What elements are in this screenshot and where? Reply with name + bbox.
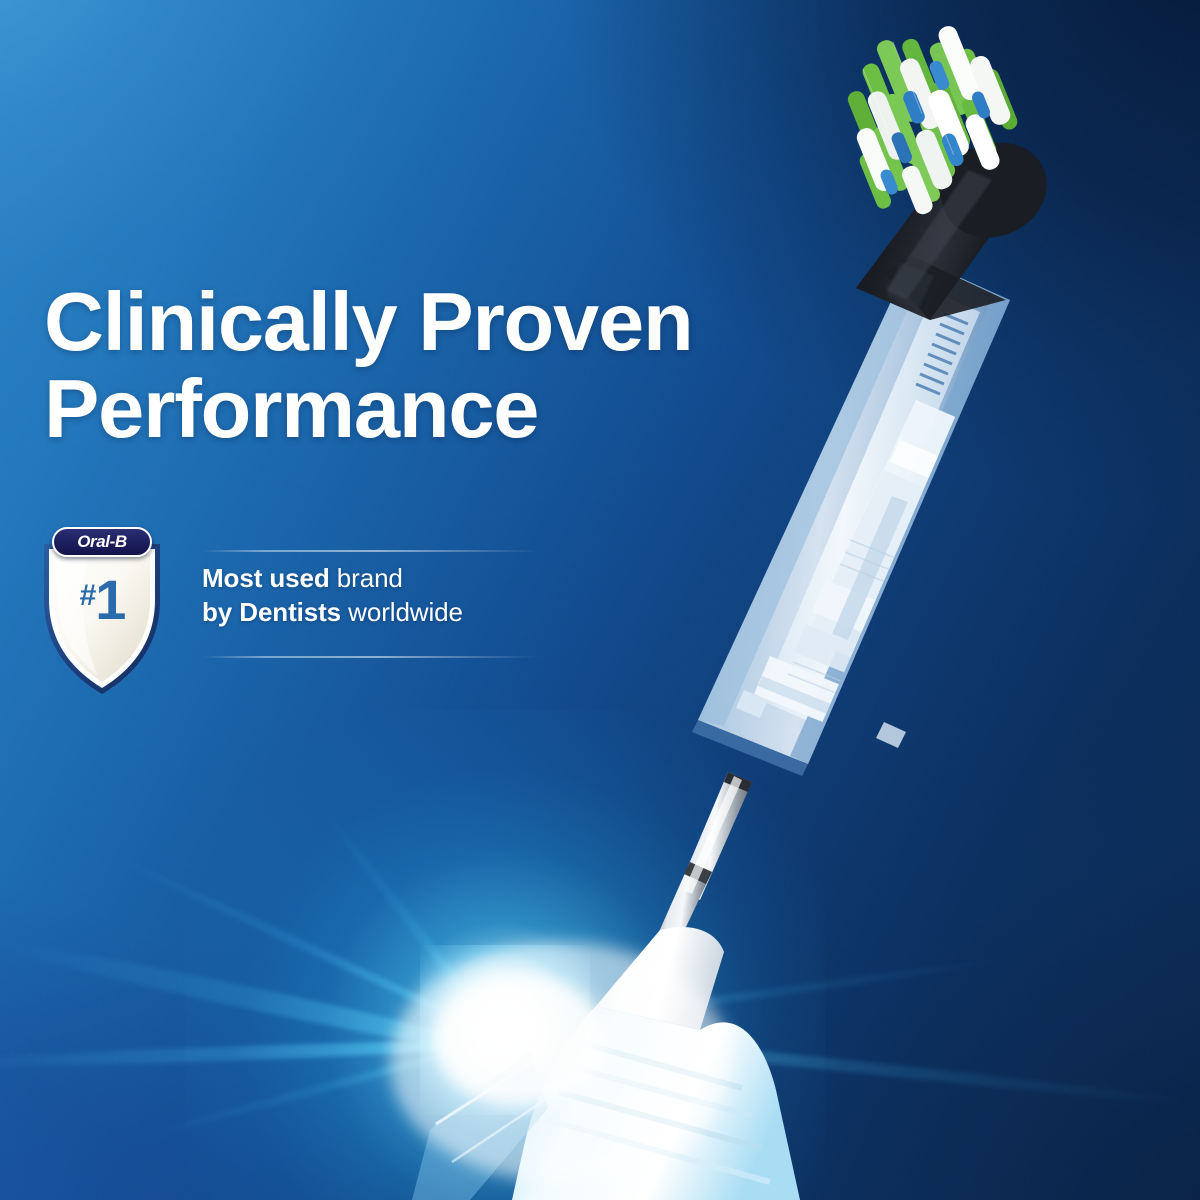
claim-line-2-rest: worldwide (348, 597, 463, 627)
claim-text-holder: Most used brand by Dentists worldwide (202, 528, 510, 630)
claim-text: Most used brand by Dentists worldwide (202, 562, 510, 630)
headline-line-1: Clinically Proven (44, 282, 804, 363)
claim-divider-top (202, 550, 538, 552)
rank-number-one: #1 (40, 572, 164, 628)
drive-pin-and-metal-shaft (658, 772, 752, 944)
claim-line-1-regular (330, 563, 337, 593)
oral-b-logo-ribbon: Oral-B (52, 527, 152, 557)
claim-line-2: by Dentists worldwide (202, 596, 510, 630)
hash-symbol: # (80, 579, 95, 612)
number-one-badge-block: Oral-B #1 Most used brand by Dentists wo… (40, 528, 510, 706)
claim-line-1: Most used brand (202, 562, 510, 596)
claim-line-1-rest: brand (337, 563, 403, 593)
oral-b-shield-badge: Oral-B #1 (40, 528, 164, 698)
headline-line-2: Performance (44, 369, 804, 450)
claim-divider-bottom (202, 656, 538, 658)
banner-canvas: Clinically Proven Performance (0, 0, 1200, 1200)
headline: Clinically Proven Performance (44, 282, 804, 449)
rank-digit: 1 (95, 568, 124, 631)
claim-line-1-bold: Most used (202, 563, 330, 593)
claim-line-2-bold: by Dentists (202, 597, 341, 627)
oral-b-logo-text: Oral-B (77, 533, 127, 550)
